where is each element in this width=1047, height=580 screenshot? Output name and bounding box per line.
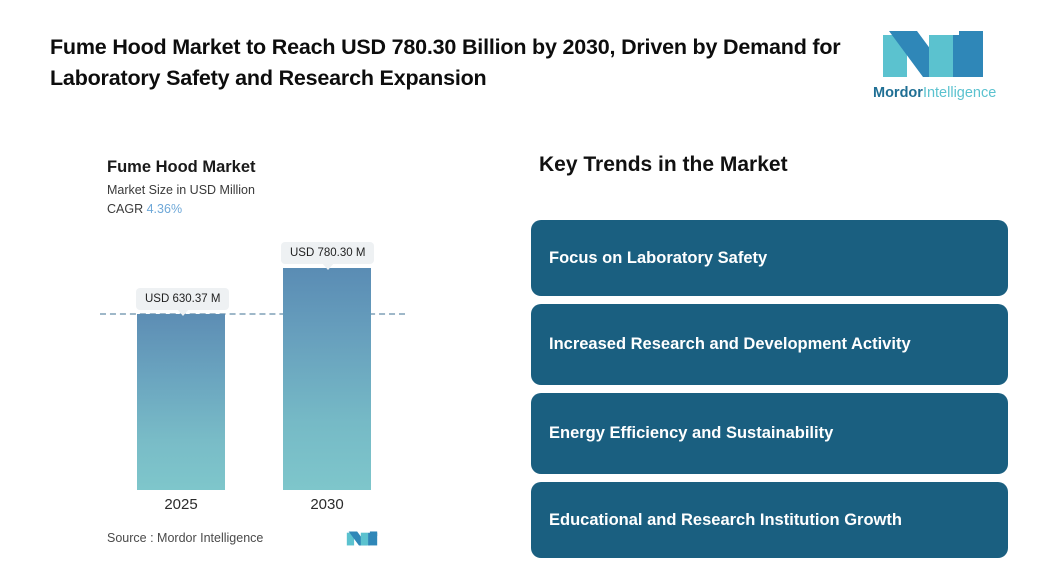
page-title: Fume Hood Market to Reach USD 780.30 Bil…: [50, 32, 850, 93]
trend-card[interactable]: Increased Research and Development Activ…: [531, 304, 1008, 385]
wordmark-intelligence: Intelligence: [923, 85, 996, 101]
x-axis-label-2025: 2025: [137, 496, 225, 513]
page-header: Fume Hood Market to Reach USD 780.30 Bil…: [0, 0, 1047, 118]
bar-2025[interactable]: [137, 314, 225, 490]
trend-card-label: Focus on Laboratory Safety: [549, 247, 767, 269]
trend-card[interactable]: Focus on Laboratory Safety: [531, 220, 1008, 296]
key-trends-panel: Key Trends in the Market Focus on Labora…: [531, 118, 1008, 580]
bar-chart-plot-area: USD 630.37 M USD 780.30 M 2025 2030: [0, 118, 520, 580]
mordor-intelligence-logo: MordorIntelligence: [873, 25, 993, 107]
x-axis-label-2030: 2030: [283, 496, 371, 513]
bar-2030[interactable]: [283, 268, 371, 490]
mordor-wordmark: MordorIntelligence: [873, 85, 993, 101]
chart-panel: Fume Hood Market Market Size in USD Mill…: [0, 118, 520, 580]
mordor-m-mark-icon: [877, 25, 989, 80]
trend-card[interactable]: Educational and Research Institution Gro…: [531, 482, 1008, 558]
bar-value-label-2030: USD 780.30 M: [281, 242, 374, 264]
bar-value-label-2025: USD 630.37 M: [136, 288, 229, 310]
source-label: Source :: [107, 531, 154, 545]
trend-card-label: Energy Efficiency and Sustainability: [549, 422, 833, 444]
key-trends-card-list: Focus on Laboratory Safety Increased Res…: [531, 220, 1008, 566]
trend-card[interactable]: Energy Efficiency and Sustainability: [531, 393, 1008, 474]
mordor-m-mark-icon: [345, 528, 379, 548]
trend-card-label: Educational and Research Institution Gro…: [549, 509, 902, 531]
key-trends-heading: Key Trends in the Market: [539, 153, 788, 177]
source-name: Mordor Intelligence: [157, 531, 263, 545]
source-row: Source : Mordor Intelligence: [107, 528, 407, 552]
source-text: Source : Mordor Intelligence: [107, 531, 263, 545]
trend-card-label: Increased Research and Development Activ…: [549, 333, 911, 355]
wordmark-mordor: Mordor: [873, 85, 923, 101]
